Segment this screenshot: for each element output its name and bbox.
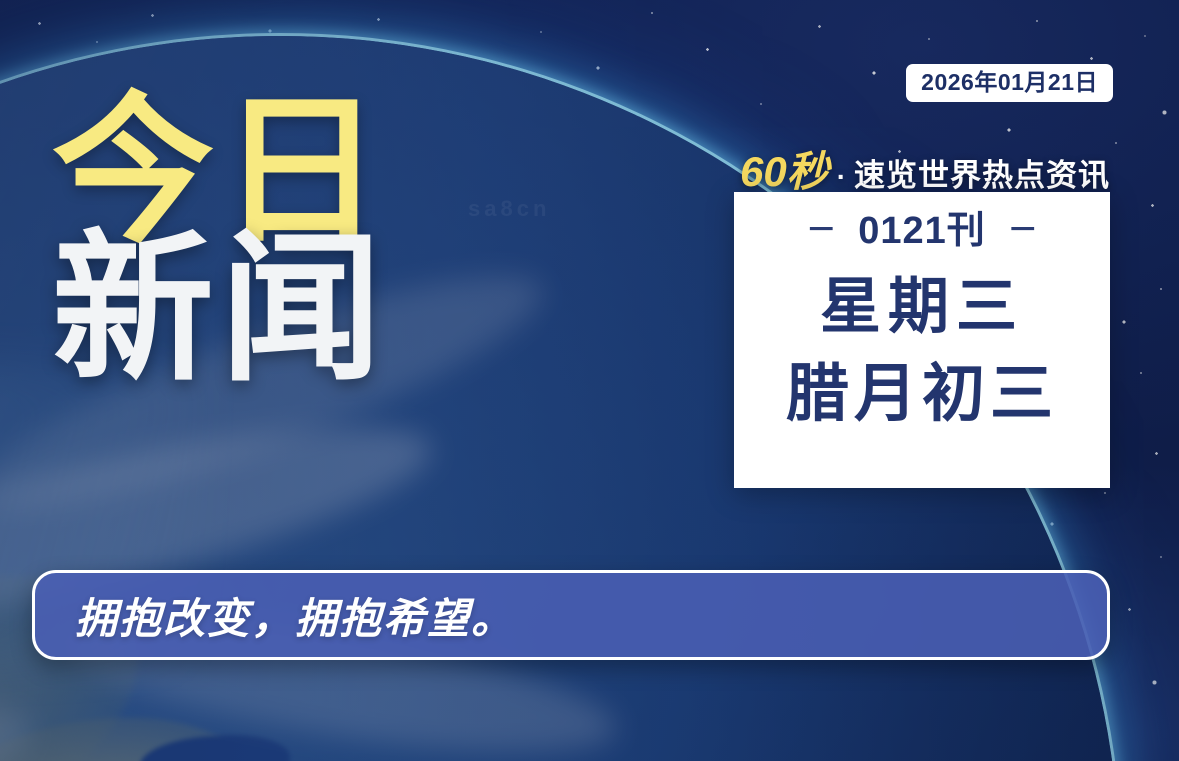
tagline: 60秒 · 速览世界热点资讯 [740, 138, 1110, 199]
issue-dash-right: － [1008, 216, 1038, 246]
tagline-separator-dot: · [837, 161, 846, 193]
issue-number: 0121刊 [858, 212, 986, 250]
news-poster: sa8cn 2026年01月21日 今日 新闻 60秒 · 速览世界热点资讯 －… [0, 0, 1179, 761]
quote-text: 拥抱改变，拥抱希望。 [35, 585, 515, 646]
date-badge: 2026年01月21日 [906, 64, 1113, 102]
masthead-line-news: 新闻 [52, 234, 472, 386]
issue-dash-left: － [806, 216, 836, 246]
background-watermark: sa8cn [468, 196, 550, 222]
masthead: 今日 新闻 [52, 96, 472, 387]
quote-bar: 拥抱改变，拥抱希望。 [32, 570, 1110, 660]
lunar-date-label: 腊月初三 [786, 363, 1058, 426]
issue-row: － 0121刊 － [806, 212, 1038, 250]
weekday-label: 星期三 [820, 276, 1024, 337]
tagline-description: 速览世界热点资讯 [854, 150, 1110, 195]
info-card: － 0121刊 － 星期三 腊月初三 [734, 192, 1110, 488]
tagline-seconds: 60秒 [740, 138, 829, 199]
